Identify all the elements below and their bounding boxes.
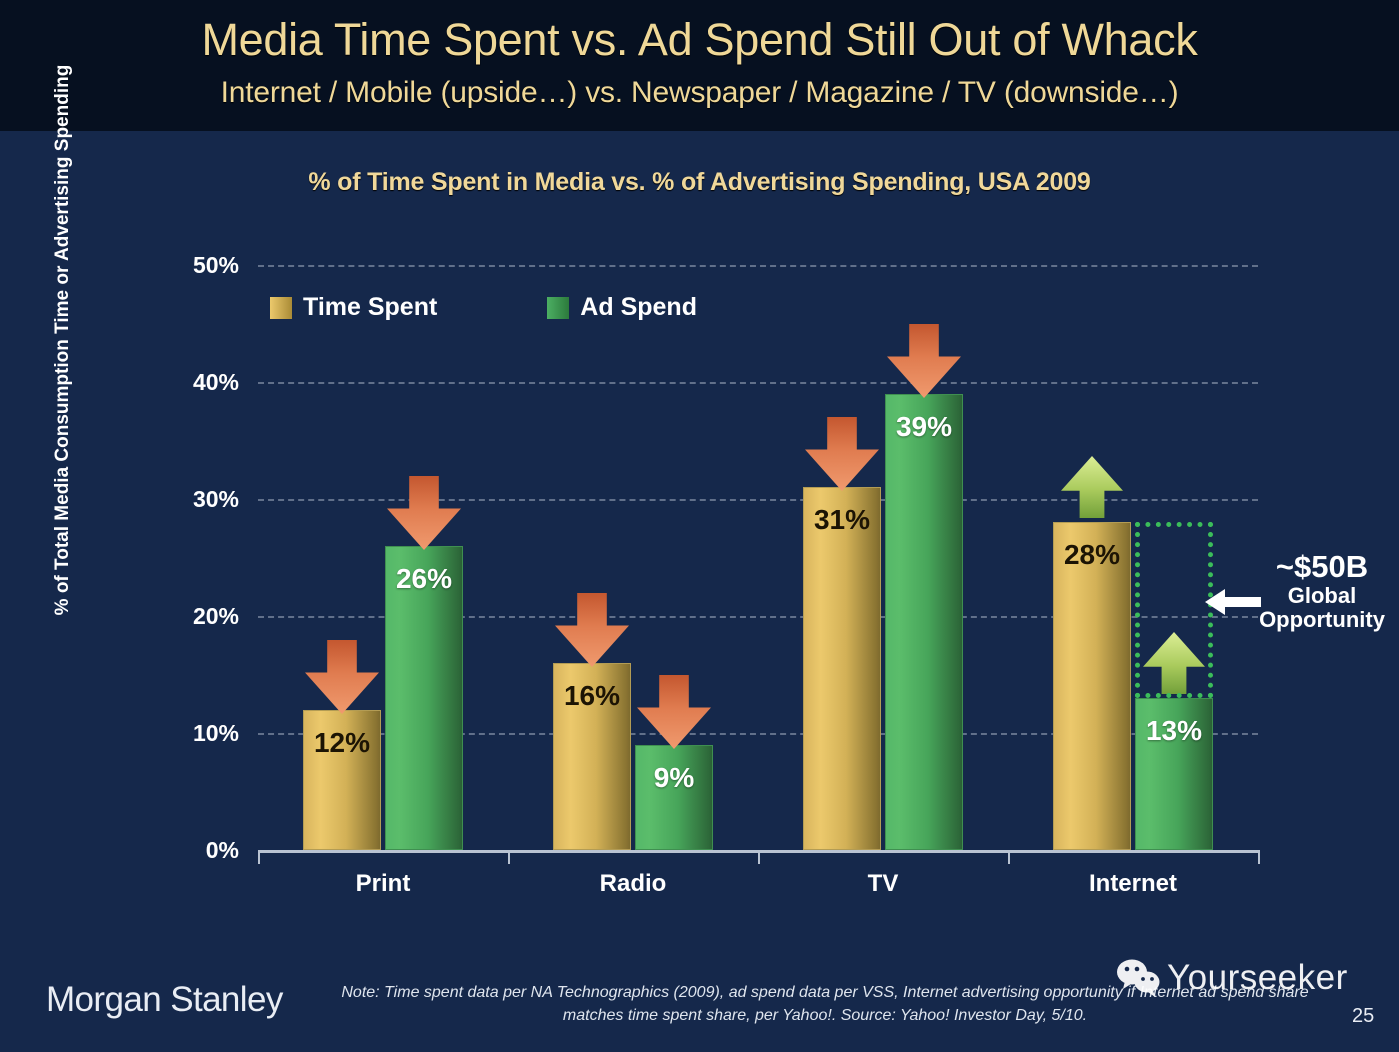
bar-tv-time-spent[interactable]: 31% [803,487,881,850]
bar-value-label: 9% [636,762,712,794]
bar-value-label: 26% [386,563,462,595]
y-axis-tick-label: 10% [119,720,239,747]
x-axis-tick-mark [758,850,760,864]
down-arrow-icon [546,593,638,667]
callout-line-2: Opportunity [1245,608,1399,633]
plot-area: 12%26%16%9%31%39%28%13% [258,265,1258,850]
bar-value-label: 39% [886,411,962,443]
down-arrow-icon [296,640,388,714]
x-axis-label-tv: TV [758,870,1008,898]
opportunity-gap-box [1135,522,1213,698]
morgan-stanley-logo: Morgan Stanley [46,980,283,1020]
x-axis-label-internet: Internet [1008,870,1258,898]
gridline [258,382,1258,384]
legend-label-time-spent: Time Spent [303,293,437,322]
bar-internet-time-spent[interactable]: 28% [1053,522,1131,850]
slide-title: Media Time Spent vs. Ad Spend Still Out … [0,0,1399,62]
gridline [258,265,1258,267]
legend-swatch-icon-time-spent [270,297,292,319]
bar-tv-ad-spend[interactable]: 39% [885,394,963,850]
bar-internet-ad-spend[interactable]: 13% [1135,698,1213,850]
down-arrow-icon [378,476,470,550]
bar-value-label: 16% [554,680,630,712]
legend-item-time-spent[interactable]: Time Spent [270,293,437,322]
up-arrow-icon [1052,456,1132,518]
bar-radio-ad-spend[interactable]: 9% [635,745,713,850]
y-axis-tick-label: 50% [119,252,239,279]
watermark-text: Yourseeker [1167,958,1348,998]
footnote-line-1: Note: Time spent data per NA Technograph… [341,984,1216,1001]
x-axis-tick-mark [1008,850,1010,864]
bar-print-time-spent[interactable]: 12% [303,710,381,850]
bar-value-label: 13% [1136,715,1212,747]
chart-legend: Time Spent Ad Spend [270,293,697,322]
y-axis-tick-label: 0% [119,837,239,864]
bar-radio-time-spent[interactable]: 16% [553,663,631,850]
x-axis-label-radio: Radio [508,870,758,898]
y-axis-tick-label: 20% [119,603,239,630]
bar-value-label: 28% [1054,539,1130,571]
down-arrow-icon [796,417,888,491]
callout-amount: ~$50B [1245,551,1399,584]
wechat-icon [1115,958,1161,998]
legend-item-ad-spend[interactable]: Ad Spend [547,293,697,322]
bar-print-ad-spend[interactable]: 26% [385,546,463,850]
callout-line-1: Global [1245,584,1399,609]
x-axis-label-print: Print [258,870,508,898]
x-axis-tick-mark [508,850,510,864]
down-arrow-icon [628,675,720,749]
slide-subtitle: Internet / Mobile (upside…) vs. Newspape… [0,62,1399,108]
y-axis-tick-label: 30% [119,486,239,513]
bar-value-label: 31% [804,504,880,536]
x-axis-tick-mark [258,850,260,864]
legend-swatch-icon-ad-spend [547,297,569,319]
watermark: Yourseeker [1115,958,1348,998]
chart-title: % of Time Spent in Media vs. % of Advert… [0,168,1399,197]
legend-label-ad-spend: Ad Spend [580,293,697,322]
x-axis-tick-mark [1258,850,1260,864]
page-number: 25 [1352,1005,1374,1028]
y-axis-tick-label: 40% [119,369,239,396]
slide-header-band: Media Time Spent vs. Ad Spend Still Out … [0,0,1399,131]
bar-value-label: 12% [304,727,380,759]
y-axis-title: % of Total Media Consumption Time or Adv… [50,60,75,620]
down-arrow-icon [878,324,970,398]
opportunity-callout: ~$50B Global Opportunity [1245,551,1399,633]
